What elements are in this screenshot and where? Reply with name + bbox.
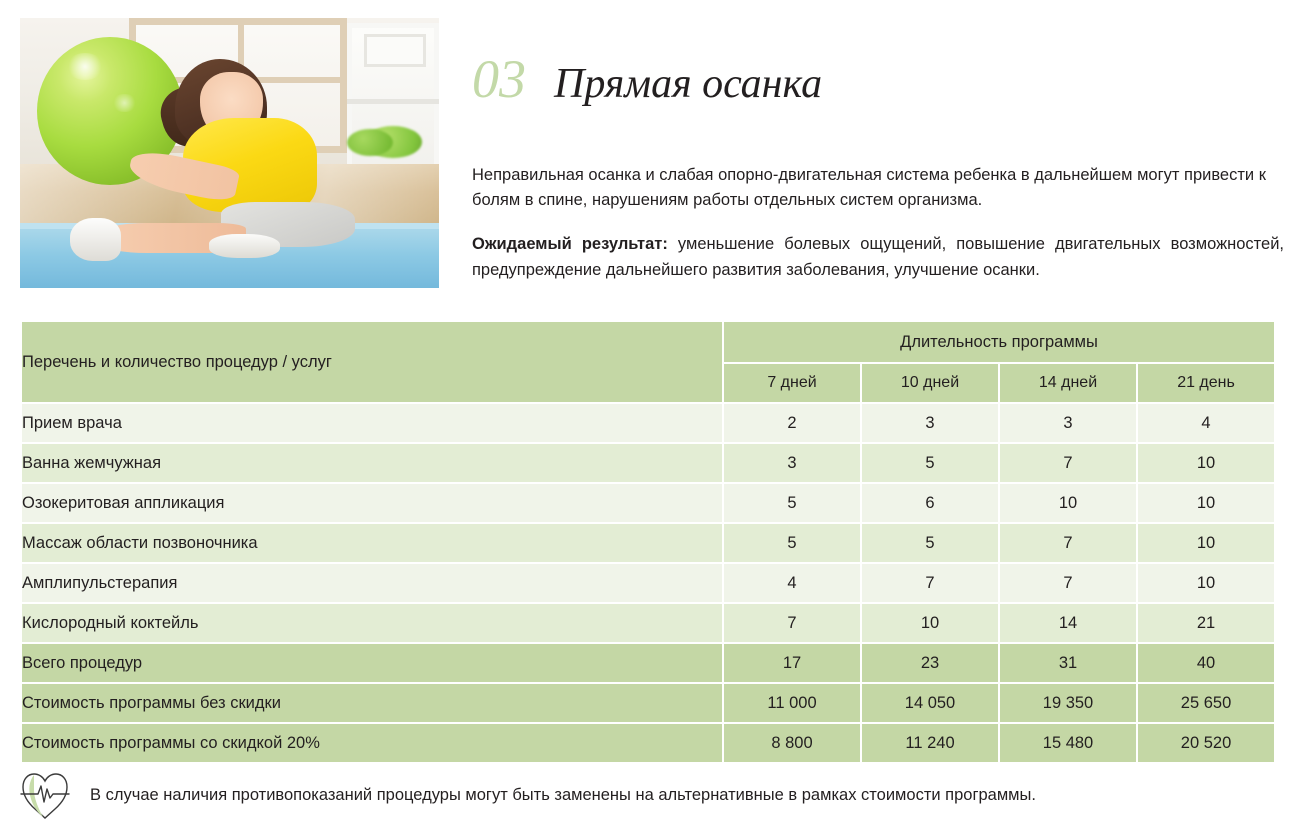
table-cell-value: 7 bbox=[1000, 564, 1136, 602]
table-header-name: Перечень и количество процедур / услуг bbox=[22, 322, 722, 402]
table-cell-value: 2 bbox=[724, 404, 860, 442]
photo-child-sock bbox=[70, 218, 120, 261]
heart-pulse-icon bbox=[20, 768, 82, 822]
table-cell-value: 19 350 bbox=[1000, 684, 1136, 722]
table-cell-value: 5 bbox=[862, 444, 998, 482]
table-header-duration-3: 21 день bbox=[1138, 364, 1274, 402]
table-cell-value: 7 bbox=[1000, 444, 1136, 482]
table-cell-name: Всего процедур bbox=[22, 644, 722, 682]
intro-paragraph: Неправильная осанка и слабая опорно-двиг… bbox=[472, 163, 1284, 213]
table-cell-value: 3 bbox=[1000, 404, 1136, 442]
table-header-group: Длительность программы bbox=[724, 322, 1274, 362]
table-header: Перечень и количество процедур / услуг Д… bbox=[22, 322, 1274, 402]
table-cell-name: Озокеритовая аппликация bbox=[22, 484, 722, 522]
table-cell-value: 5 bbox=[862, 524, 998, 562]
table-cell-value: 7 bbox=[724, 604, 860, 642]
table-cell-value: 40 bbox=[1138, 644, 1274, 682]
table-cell-name: Ванна жемчужная bbox=[22, 444, 722, 482]
table-row: Прием врача2334 bbox=[22, 404, 1274, 442]
table-cell-value: 10 bbox=[1138, 524, 1274, 562]
table-cell-value: 31 bbox=[1000, 644, 1136, 682]
table-cell-value: 20 520 bbox=[1138, 724, 1274, 762]
table-cell-name: Кислородный коктейль bbox=[22, 604, 722, 642]
table-cell-value: 7 bbox=[1000, 524, 1136, 562]
table-cell-value: 10 bbox=[1138, 564, 1274, 602]
photo-shelf-line bbox=[347, 99, 439, 104]
photo-shelf-ball bbox=[347, 129, 393, 156]
table-cell-value: 11 240 bbox=[862, 724, 998, 762]
table-cell-value: 10 bbox=[1138, 444, 1274, 482]
table-row: Кислородный коктейль7101421 bbox=[22, 604, 1274, 642]
table-cell-value: 6 bbox=[862, 484, 998, 522]
table-cell-value: 14 bbox=[1000, 604, 1136, 642]
table-body: Прием врача2334Ванна жемчужная35710Озоке… bbox=[22, 404, 1274, 762]
page-title: Прямая осанка bbox=[554, 60, 822, 108]
table-row: Массаж области позвоночника55710 bbox=[22, 524, 1274, 562]
table-cell-value: 8 800 bbox=[724, 724, 860, 762]
table-header-duration-2: 14 дней bbox=[1000, 364, 1136, 402]
table-row: Стоимость программы без скидки11 00014 0… bbox=[22, 684, 1274, 722]
table-cell-value: 5 bbox=[724, 524, 860, 562]
table-cell-value: 23 bbox=[862, 644, 998, 682]
table-cell-value: 21 bbox=[1138, 604, 1274, 642]
table-cell-name: Стоимость программы со скидкой 20% bbox=[22, 724, 722, 762]
table-header-duration-0: 7 дней bbox=[724, 364, 860, 402]
table-cell-name: Массаж области позвоночника bbox=[22, 524, 722, 562]
table-cell-value: 5 bbox=[724, 484, 860, 522]
table-cell-value: 7 bbox=[862, 564, 998, 602]
table-header-duration-1: 10 дней bbox=[862, 364, 998, 402]
photo-ball-highlight bbox=[66, 53, 104, 80]
table-cell-name: Амплипульстерапия bbox=[22, 564, 722, 602]
photo-child-sock bbox=[209, 234, 280, 258]
table-cell-value: 17 bbox=[724, 644, 860, 682]
table-cell-value: 10 bbox=[862, 604, 998, 642]
table-cell-value: 10 bbox=[1138, 484, 1274, 522]
footer-note: В случае наличия противопоказаний процед… bbox=[20, 768, 1275, 822]
footer-note-text: В случае наличия противопоказаний процед… bbox=[90, 786, 1036, 805]
table-cell-name: Стоимость программы без скидки bbox=[22, 684, 722, 722]
table-cell-value: 3 bbox=[724, 444, 860, 482]
table-row: Амплипульстерапия47710 bbox=[22, 564, 1274, 602]
table-row: Озокеритовая аппликация561010 bbox=[22, 484, 1274, 522]
table-cell-value: 3 bbox=[862, 404, 998, 442]
section-number: 03 bbox=[472, 52, 526, 106]
table-row: Всего процедур17233140 bbox=[22, 644, 1274, 682]
table-cell-value: 15 480 bbox=[1000, 724, 1136, 762]
table-cell-value: 10 bbox=[1000, 484, 1136, 522]
table-row: Ванна жемчужная35710 bbox=[22, 444, 1274, 482]
table-cell-value: 25 650 bbox=[1138, 684, 1274, 722]
expected-result-label: Ожидаемый результат: bbox=[472, 235, 668, 253]
table-cell-value: 11 000 bbox=[724, 684, 860, 722]
table-cell-value: 14 050 bbox=[862, 684, 998, 722]
section-heading: 03Прямая осанка bbox=[472, 52, 1282, 108]
table-cell-name: Прием врача bbox=[22, 404, 722, 442]
expected-result-paragraph: Ожидаемый результат: уменьшение болевых … bbox=[472, 231, 1284, 283]
program-table: Перечень и количество процедур / услуг Д… bbox=[20, 320, 1276, 764]
photo-shelf-box bbox=[364, 34, 427, 66]
table-cell-value: 4 bbox=[1138, 404, 1274, 442]
table-cell-value: 4 bbox=[724, 564, 860, 602]
hero-photo bbox=[20, 18, 439, 288]
table-row: Стоимость программы со скидкой 20%8 8001… bbox=[22, 724, 1274, 762]
